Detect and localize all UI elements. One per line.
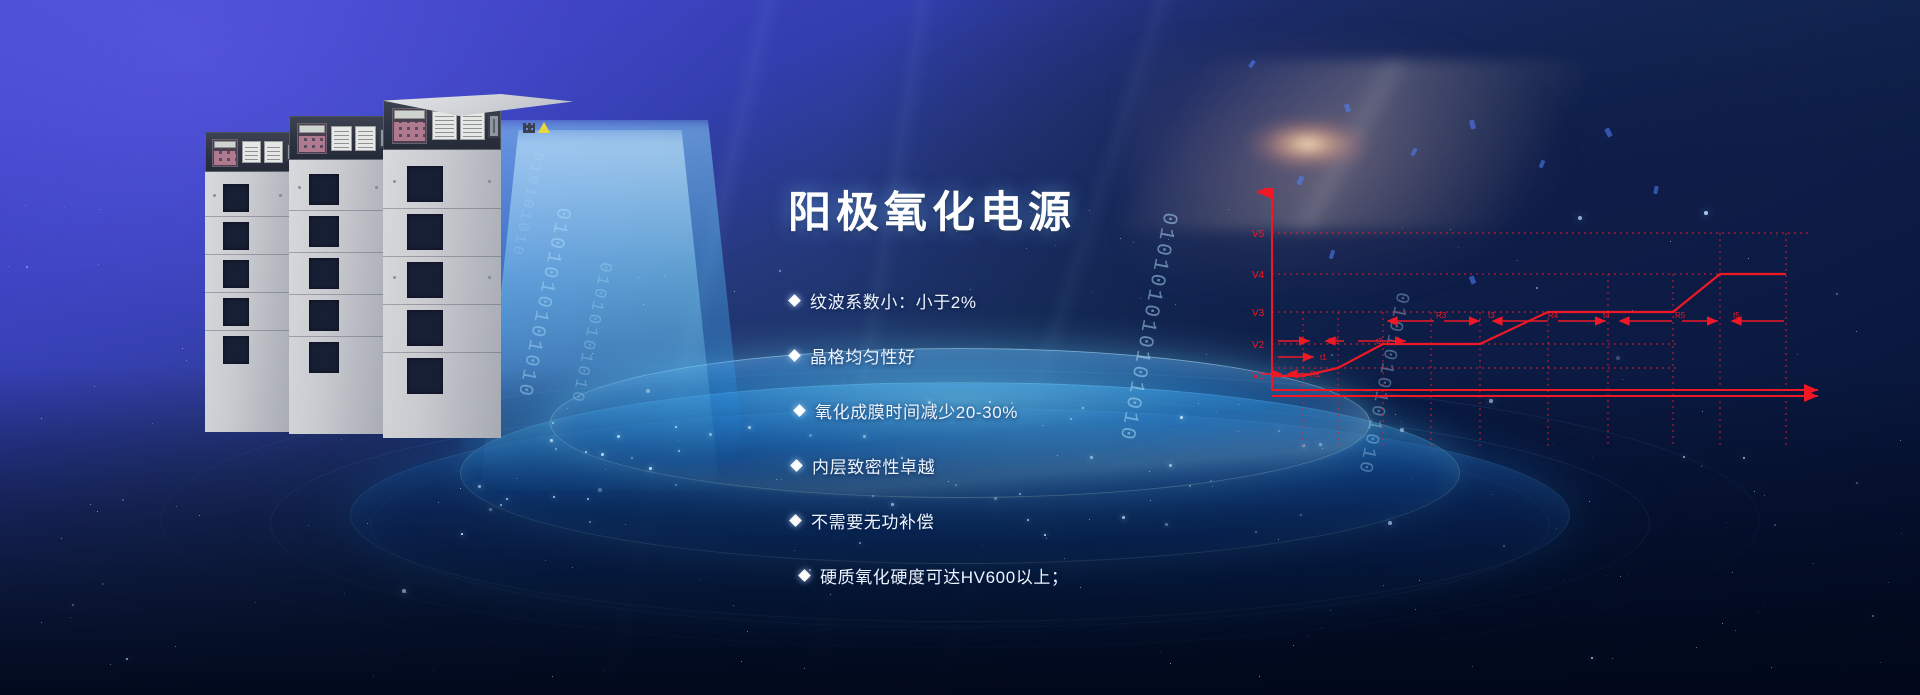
list-item-label: 硬质氧化硬度可达HV600以上； <box>820 563 1069 588</box>
chart-segment-label: t4 <box>1603 311 1610 320</box>
chart-y-tick: V1 <box>1252 371 1265 382</box>
list-item-label: 晶格均匀性好 <box>810 343 916 368</box>
list-item-label: 纹波系数小：小于2% <box>810 288 977 313</box>
warning-triangle-icon <box>538 122 550 133</box>
diamond-bullet-icon <box>789 514 802 527</box>
cabinet-vent <box>407 262 443 298</box>
cabinet-middle-body <box>289 116 389 434</box>
chart-y-tick-labels: V1 V2 V3 V4 V5 <box>1252 229 1265 382</box>
digital-readout-icon <box>394 110 425 119</box>
cabinet-screw <box>279 194 282 197</box>
lens-flare-core <box>1248 118 1368 170</box>
cabinet-vent <box>309 216 339 247</box>
chart-segment-label: R4 <box>1548 311 1559 320</box>
cabinet-vent <box>407 214 443 250</box>
cabinet-side-face <box>205 100 277 310</box>
list-item-label: 氧化成膜时间减少20-30% <box>815 398 1018 423</box>
chart-waveform <box>1276 274 1786 376</box>
chart-segment-label: t3 <box>1488 311 1495 320</box>
cabinet-vent <box>223 336 249 364</box>
chart-segment-label: t2 <box>1376 337 1383 346</box>
voltage-ramp-svg: V1 V2 V3 V4 V5 R1 t1 R2 t2 R3 t3 R4 t4 R… <box>1248 188 1838 488</box>
cabinet-seam <box>383 352 501 353</box>
chart-segment-label: t1 <box>1320 353 1327 362</box>
cabinet-screw <box>375 186 378 189</box>
high-voltage-warning-label <box>523 122 550 133</box>
list-item: 不需要无功补偿 <box>791 508 1350 533</box>
page-title: 阳极氧化电源 <box>788 178 1076 240</box>
cabinet-vent <box>309 174 339 205</box>
list-item: 硬质氧化硬度可达HV600以上； <box>800 563 1350 588</box>
cabinet-screw <box>393 276 396 279</box>
chart-y-tick: V4 <box>1252 270 1265 281</box>
nameplate-left-icon <box>432 111 457 140</box>
diamond-bullet-icon <box>793 404 806 417</box>
cabinet-right <box>383 100 501 438</box>
cabinet-vent <box>407 166 443 202</box>
chart-segment-label: R2 <box>1328 337 1339 346</box>
cabinet-seam <box>289 294 389 295</box>
digital-readout-icon <box>299 125 325 133</box>
keypad-keys-icon <box>394 122 425 141</box>
list-item-label: 不需要无功补偿 <box>811 508 934 533</box>
chart-segment-label: R3 <box>1436 311 1447 320</box>
warning-dots-icon <box>523 123 535 133</box>
list-item-label: 内层致密性卓越 <box>812 453 935 478</box>
nameplate-right-icon <box>355 126 376 151</box>
chart-segment-label: R1 <box>1310 370 1321 379</box>
cabinet-vent <box>309 300 339 331</box>
nameplate-left-icon <box>331 126 352 151</box>
cabinet-screw <box>393 180 396 183</box>
cabinet-screw <box>488 276 491 279</box>
cabinet-seam <box>289 210 389 211</box>
chart-y-tick: V2 <box>1252 340 1265 351</box>
cabinet-seam <box>289 252 389 253</box>
cabinet-screw <box>488 180 491 183</box>
diamond-bullet-icon <box>798 569 811 582</box>
chart-y-tick: V5 <box>1252 229 1265 240</box>
cabinet-middle <box>289 116 389 434</box>
diamond-bullet-icon <box>790 459 803 472</box>
cabinet-seam <box>205 330 295 331</box>
diamond-bullet-icon <box>788 294 801 307</box>
banner-stage: 010101010 0101010101010 01010101010 0101… <box>0 0 1920 695</box>
chart-segment-label: R5 <box>1675 311 1686 320</box>
chart-gridlines-y <box>1272 233 1808 368</box>
cabinet-vent <box>309 258 339 289</box>
keypad-keys-icon <box>299 136 325 152</box>
cabinet-seam <box>383 304 501 305</box>
cabinet-seam <box>289 336 389 337</box>
cabinet-seam <box>383 208 501 209</box>
cabinet-vent <box>309 342 339 373</box>
analog-meter-icon <box>488 114 500 138</box>
cabinet-seam <box>383 256 501 257</box>
cabinet-vent <box>407 310 443 346</box>
cabinet-middle-panel <box>289 116 389 160</box>
power-supply-cabinets <box>205 100 625 450</box>
cabinet-vent <box>407 358 443 394</box>
voltage-ramp-chart: V1 V2 V3 V4 V5 R1 t1 R2 t2 R3 t3 R4 t4 R… <box>1248 188 1838 488</box>
diamond-bullet-icon <box>788 349 801 362</box>
chart-y-tick: V3 <box>1252 308 1265 319</box>
chart-segment-label: t5 <box>1733 311 1740 320</box>
cabinet-screw <box>298 186 301 189</box>
